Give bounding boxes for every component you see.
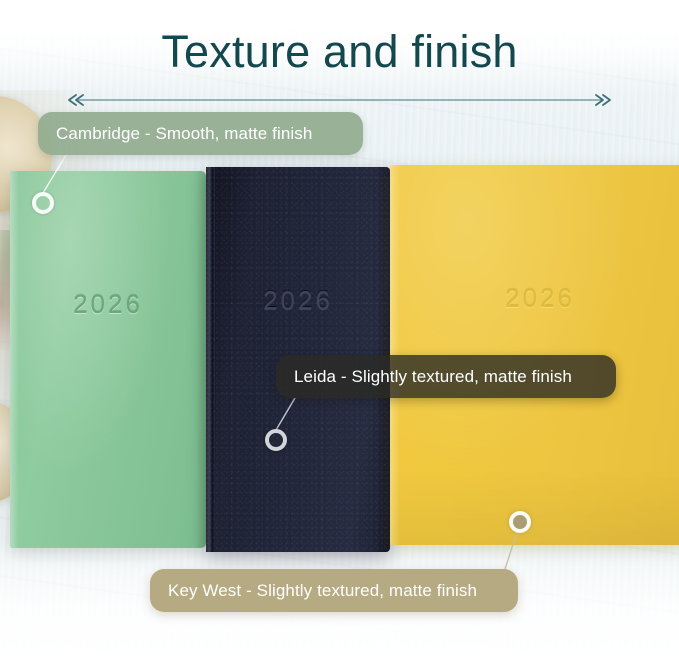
callout-ring-marker-keywest[interactable] bbox=[509, 511, 531, 533]
callout-badge-cambridge[interactable]: Cambridge - Smooth, matte finish bbox=[38, 112, 363, 155]
callout-label-leida: Leida - Slightly textured, matte finish bbox=[294, 367, 572, 387]
callout-badge-leida[interactable]: Leida - Slightly textured, matte finish bbox=[276, 355, 616, 398]
product-texture-infographic: Texture and finish 2026 2026 2026 Cambri… bbox=[0, 0, 679, 662]
callout-badge-keywest[interactable]: Key West - Slightly textured, matte fini… bbox=[150, 569, 518, 612]
callout-leader-lines bbox=[0, 0, 679, 662]
callout-ring-marker-cambridge[interactable] bbox=[32, 192, 54, 214]
callout-label-cambridge: Cambridge - Smooth, matte finish bbox=[56, 124, 312, 144]
callout-ring-marker-leida[interactable] bbox=[265, 429, 287, 451]
callout-label-keywest: Key West - Slightly textured, matte fini… bbox=[168, 581, 477, 601]
